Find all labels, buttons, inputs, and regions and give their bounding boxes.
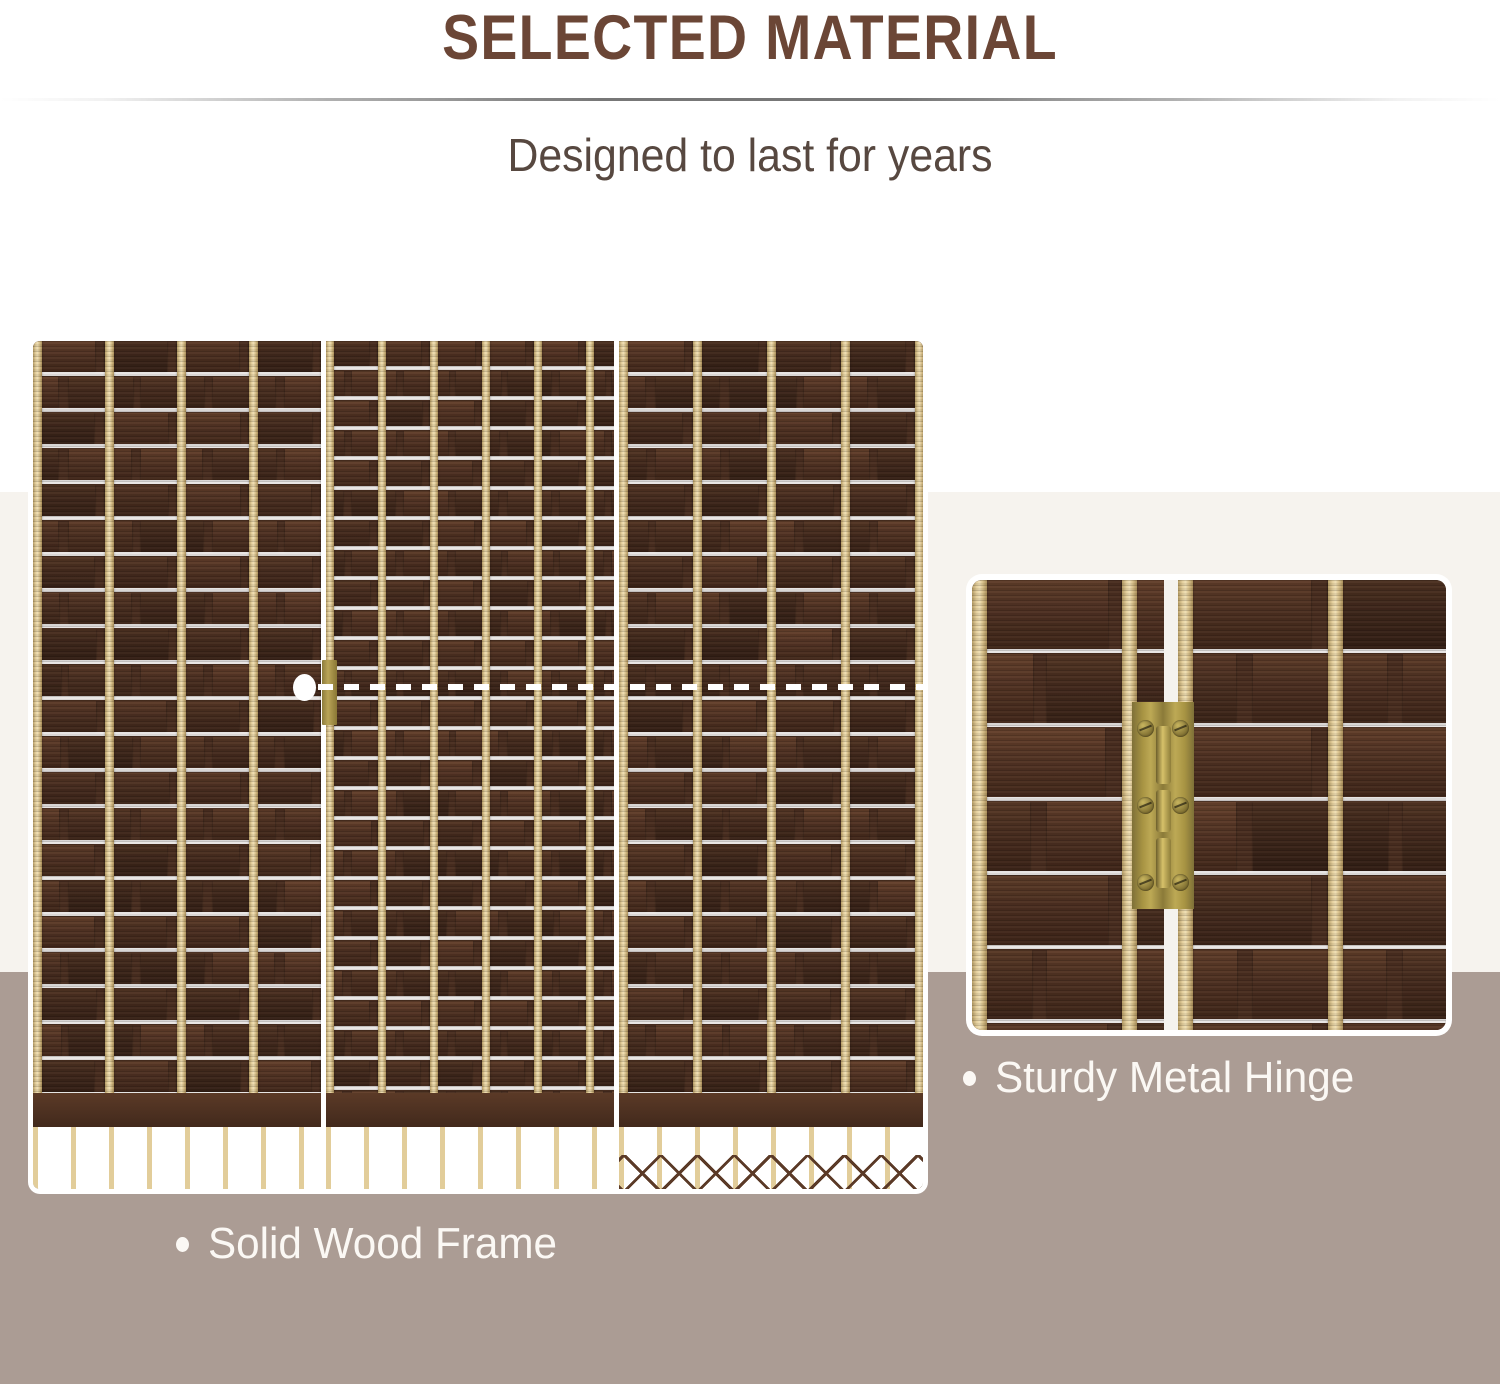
inset-weave-right <box>1178 580 1446 1030</box>
bullet-dot-icon <box>176 1237 189 1252</box>
panel-left-grain <box>33 341 321 1189</box>
hinge-screw-2 <box>1172 720 1189 737</box>
hinge-leader-line <box>318 684 928 690</box>
panel-middle-base <box>326 1093 614 1189</box>
panel-right-base <box>619 1093 923 1189</box>
panel-left-spindles <box>33 1127 321 1189</box>
panel-middle-rail <box>326 1093 614 1127</box>
hinge-screw-1 <box>1137 720 1154 737</box>
panel-right-rail <box>619 1093 923 1127</box>
main-photo-hinge-icon <box>322 660 337 725</box>
label-sturdy-metal-hinge: Sturdy Metal Hinge <box>963 1052 1369 1104</box>
panel-left-base <box>33 1093 321 1189</box>
hinge-screw-4 <box>1172 797 1189 814</box>
hinge-knuckle-top <box>1156 726 1171 784</box>
page-title: SELECTED MATERIAL <box>90 2 1410 74</box>
bullet-dot-icon <box>963 1071 976 1086</box>
hinge-detail-inset <box>972 580 1446 1030</box>
inset-right-grain <box>1178 580 1446 1030</box>
hinge-marker-dot <box>293 674 316 701</box>
hinge-screw-6 <box>1172 874 1189 891</box>
hinge-screw-5 <box>1137 874 1154 891</box>
label-hinge-text: Sturdy Metal Hinge <box>995 1052 1354 1104</box>
hinge-knuckle-middle <box>1156 790 1171 832</box>
divider-panel-right <box>619 341 923 1189</box>
panel-middle-grain <box>326 341 614 1189</box>
page-subtitle: Designed to last for years <box>53 128 1448 182</box>
panel-right-grain <box>619 341 923 1189</box>
label-frame-text: Solid Wood Frame <box>208 1218 557 1270</box>
title-divider <box>0 98 1500 101</box>
divider-panel-left <box>33 341 321 1189</box>
divider-panel-middle <box>326 341 614 1189</box>
header: SELECTED MATERIAL Designed to last for y… <box>0 0 1500 200</box>
panel-right-x-lattice <box>619 1155 923 1189</box>
brass-hinge-icon <box>1132 702 1194 909</box>
panel-middle-spindles <box>326 1127 614 1189</box>
panel-left-rail <box>33 1093 321 1127</box>
main-product-photo <box>33 341 923 1189</box>
hinge-screw-3 <box>1137 797 1154 814</box>
hinge-knuckle-bottom <box>1156 838 1171 888</box>
label-solid-wood-frame: Solid Wood Frame <box>176 1218 572 1270</box>
